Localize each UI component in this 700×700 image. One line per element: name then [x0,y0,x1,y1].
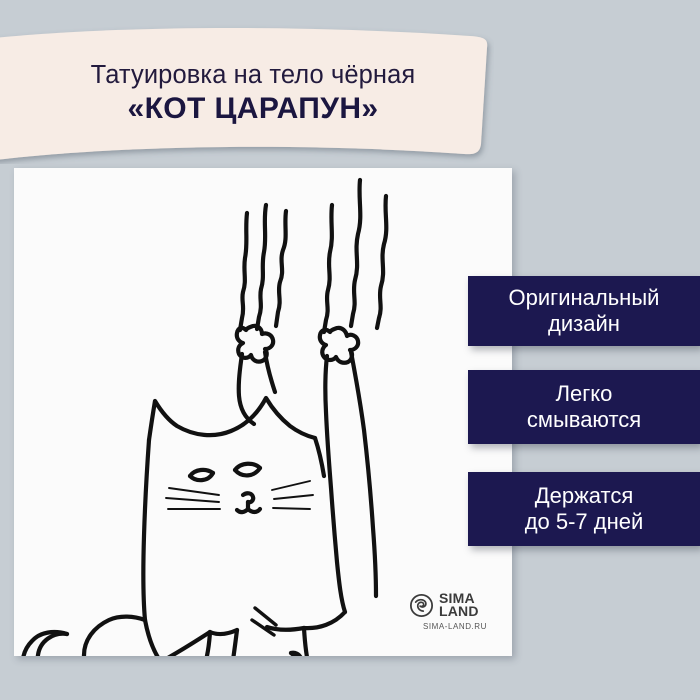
logo-row: SIMA LAND [409,592,505,618]
card-inner: SIMA LAND SIMA-LAND.RU [14,168,512,656]
sima-land-bird-icon [409,593,434,618]
logo-word-land: LAND [439,605,479,618]
badge-line-2: смываются [527,407,641,433]
logo-wordmark: SIMA LAND [439,592,479,618]
feature-badge-original-design: Оригинальный дизайн [468,276,700,346]
banner-subtitle: Татуировка на тело чёрная [91,61,416,90]
banner-text-block: Татуировка на тело чёрная «КОТ ЦАРАПУН» [0,24,494,164]
badge-line-1: Держатся [535,483,634,509]
sima-land-logo: SIMA LAND SIMA-LAND.RU [409,592,505,638]
banner-title: «КОТ ЦАРАПУН» [128,92,379,127]
logo-url: SIMA-LAND.RU [409,622,501,631]
promo-image-stage: Татуировка на тело чёрная «КОТ ЦАРАПУН» [0,0,700,700]
badge-line-1: Легко [556,381,613,407]
badge-line-1: Оригинальный [509,285,660,311]
scratching-cat-illustration [14,168,512,656]
product-card: SIMA LAND SIMA-LAND.RU [14,168,512,656]
feature-badge-easy-wash: Легко смываются [468,370,700,444]
badge-line-2: дизайн [548,311,620,337]
title-banner: Татуировка на тело чёрная «КОТ ЦАРАПУН» [0,24,494,164]
badge-line-2: до 5-7 дней [525,509,644,535]
feature-badge-duration: Держатся до 5-7 дней [468,472,700,546]
